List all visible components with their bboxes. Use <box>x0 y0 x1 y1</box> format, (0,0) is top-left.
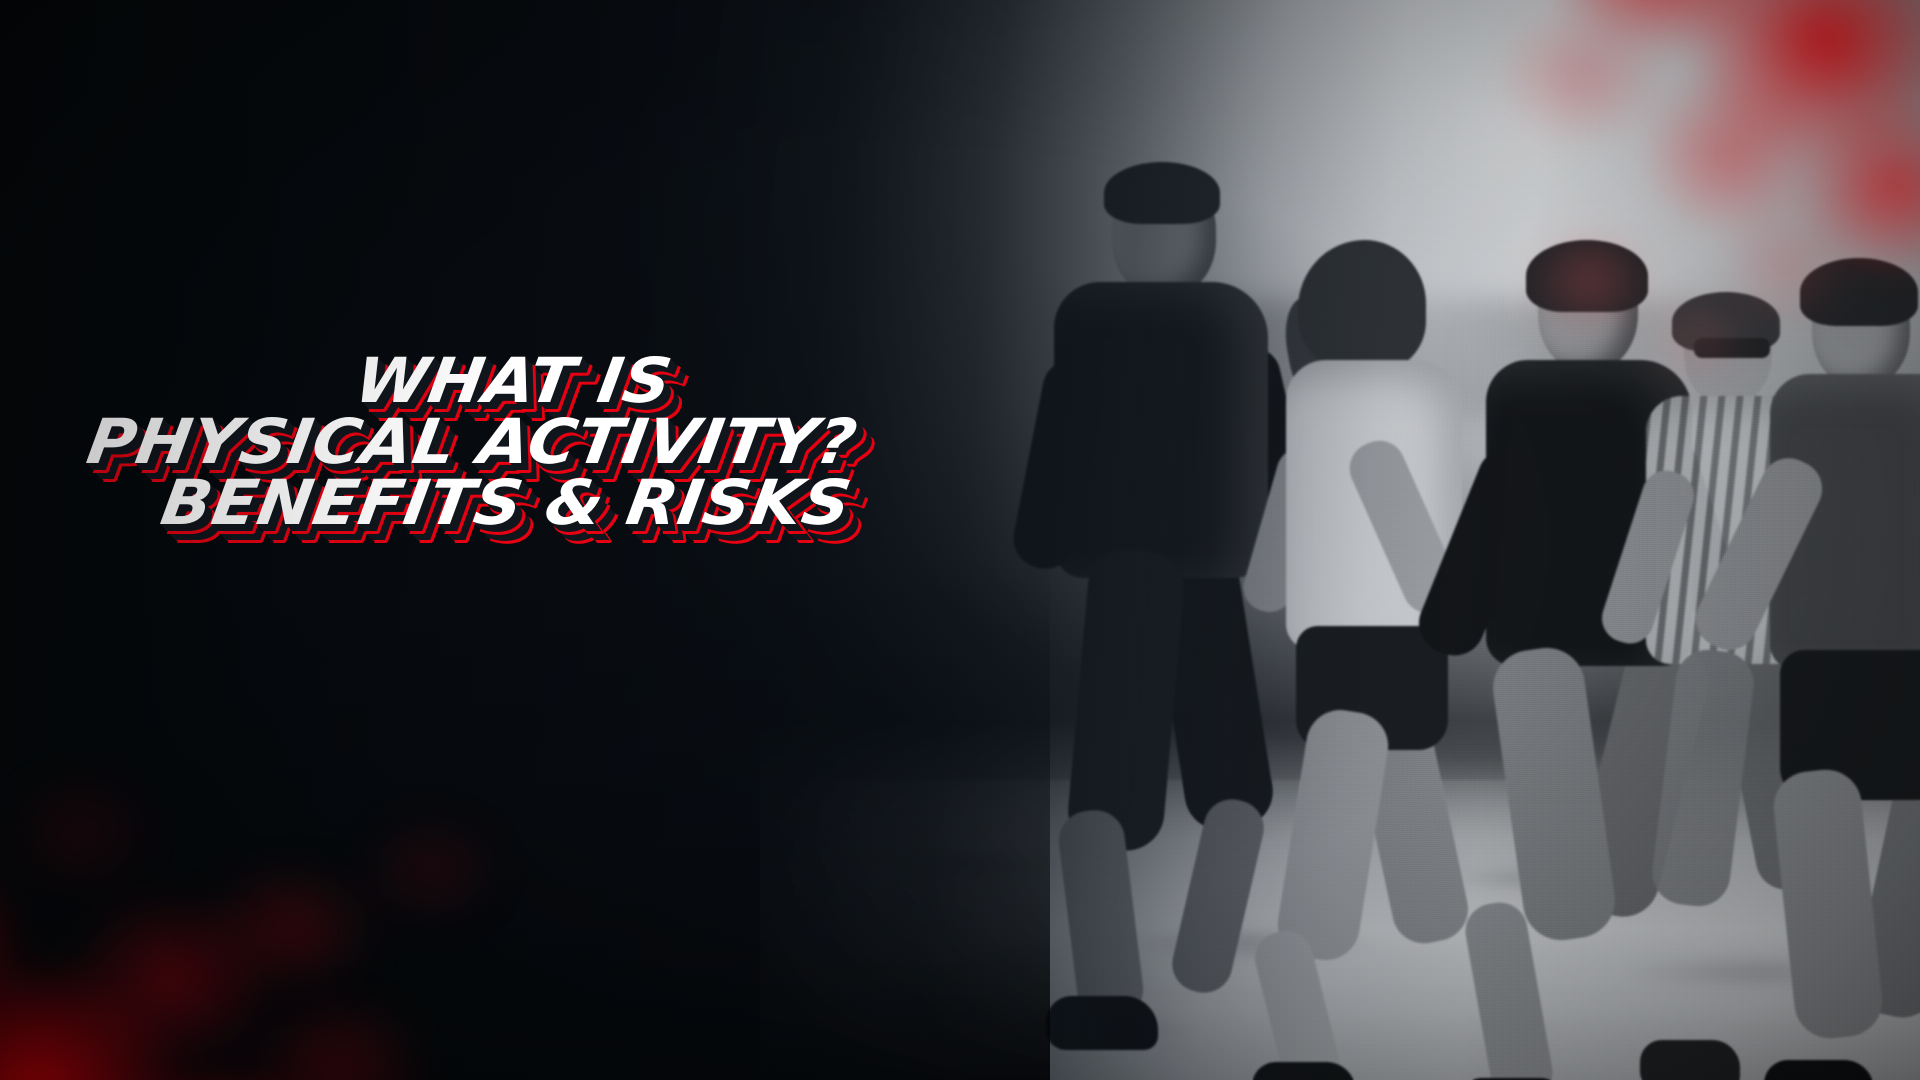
headline-line-1: WHAT IS <box>351 352 1274 409</box>
headline-block: WHAT IS PHYSICAL ACTIVITY? BENEFITS & RI… <box>88 352 1218 531</box>
headline-line-3: BENEFITS & RISKS <box>157 474 1285 531</box>
headline-line-2: PHYSICAL ACTIVITY? <box>83 413 1290 470</box>
hero-banner: WHAT IS PHYSICAL ACTIVITY? BENEFITS & RI… <box>0 0 1920 1080</box>
red-smoke-bottom-left-wisp <box>120 750 540 1050</box>
red-smoke-top-right-wisp <box>1500 150 1800 410</box>
